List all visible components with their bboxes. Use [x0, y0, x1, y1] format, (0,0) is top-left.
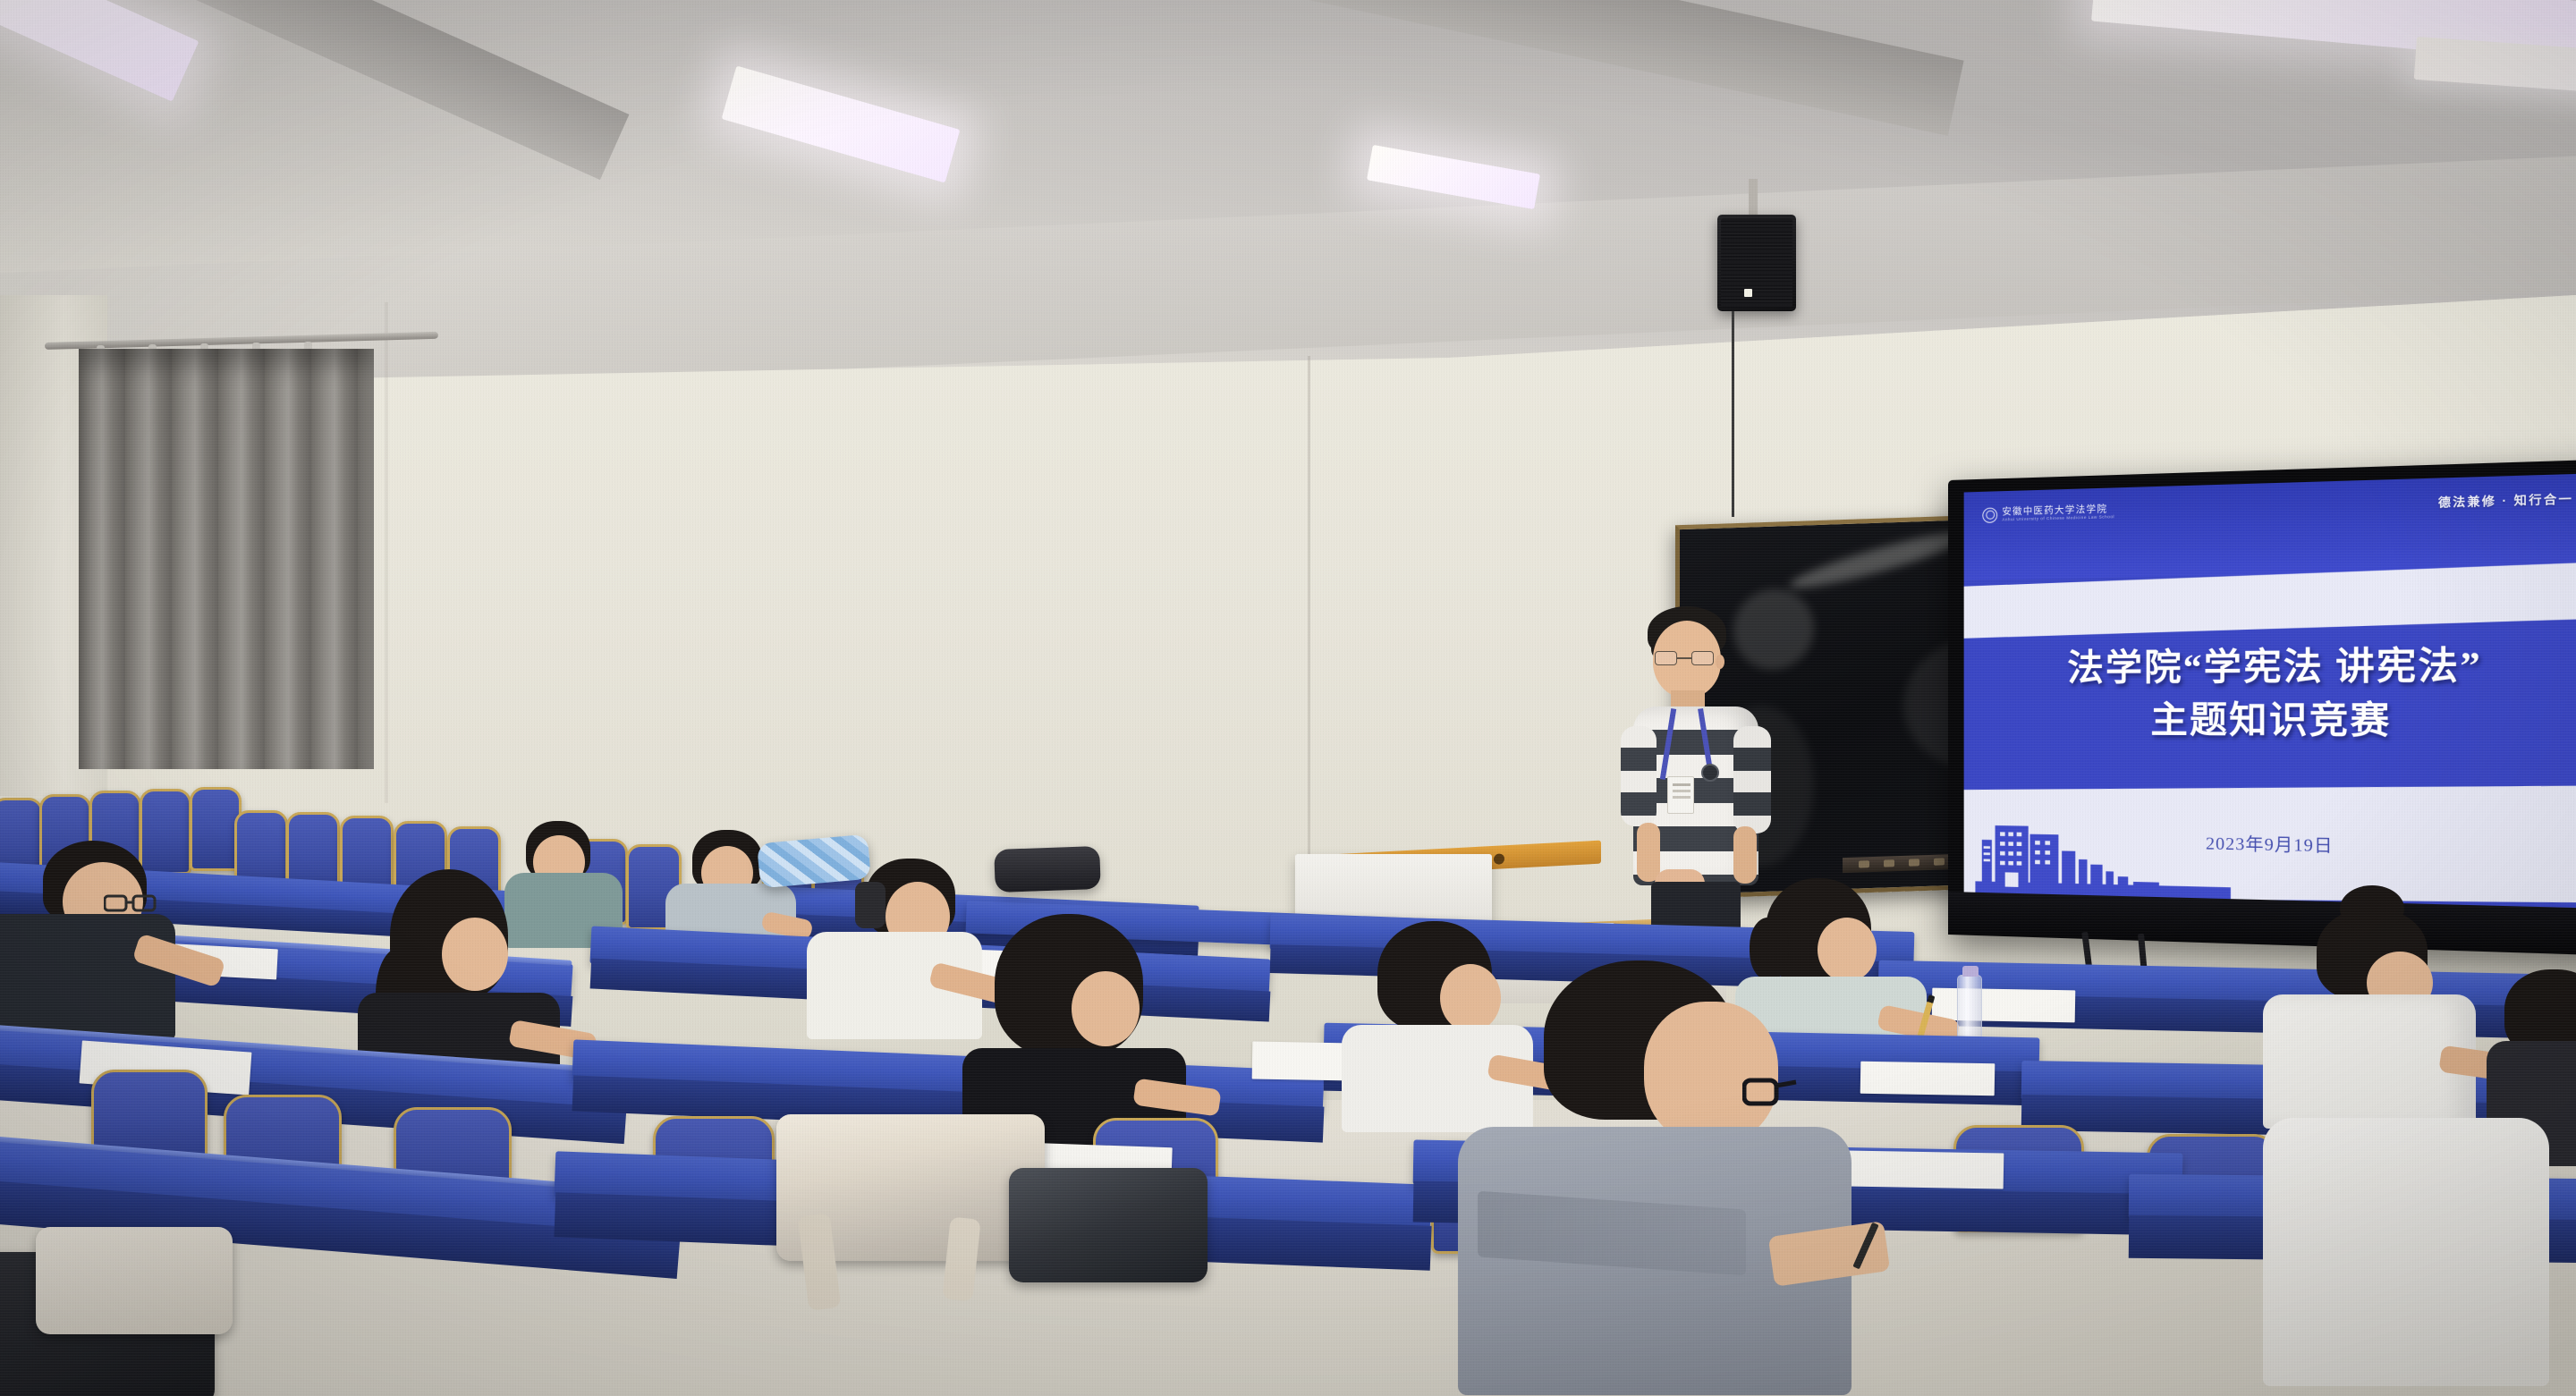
glasses-icon: [1655, 651, 1714, 666]
presenter-sleeve-left: [1621, 726, 1657, 826]
student-s8: [1458, 960, 1887, 1396]
wall-seam-vertical: [1308, 356, 1310, 857]
slide-title: 法学院“学宪法 讲宪法” 主题知识竞赛: [1964, 639, 2576, 749]
headphones-icon: [855, 882, 885, 928]
slide-slogan: 德法兼修 · 知行合一: [2438, 488, 2573, 511]
city-skyline-graphic: [1976, 804, 2232, 899]
bottle-cap: [1962, 966, 1979, 977]
student-torso: [2263, 1118, 2549, 1386]
id-badge: [1667, 776, 1694, 814]
student-head: [1072, 971, 1140, 1046]
slide-header-band: [1964, 473, 2576, 580]
presenter-forearm-right: [1733, 826, 1757, 884]
presenter-ear: [1716, 655, 1724, 669]
school-seal-icon: [1983, 507, 1998, 523]
speaker-grille-icon: [1721, 218, 1792, 308]
slide-title-line1: 法学院“学宪法 讲宪法”: [1964, 639, 2576, 695]
slide-title-line2: 主题知识竞赛: [1964, 694, 2576, 749]
presentation-slide: 安徽中医药大学法学院 Anhui University of Chinese M…: [1964, 473, 2576, 909]
classroom-scene: 安徽中医药大学法学院 Anhui University of Chinese M…: [0, 0, 2576, 1396]
window-curtain[interactable]: [79, 349, 374, 769]
wall-speaker: [1717, 215, 1796, 311]
student-s6: [948, 914, 1207, 1138]
presenter-forearm-left: [1637, 823, 1660, 882]
student-s10-foreground: [2263, 1118, 2558, 1396]
glasses-icon: [1742, 1073, 1801, 1109]
student-torso: [0, 914, 175, 1039]
student-s1: [0, 841, 233, 1028]
hair-bun-icon: [2340, 885, 2404, 932]
glasses-icon: [104, 893, 157, 914]
interactive-display[interactable]: 安徽中医药大学法学院 Anhui University of Chinese M…: [1948, 459, 2576, 956]
student-head: [442, 918, 508, 991]
wall-seam-corner: [385, 302, 388, 803]
speaker-led-icon: [1744, 289, 1752, 297]
presenter-sleeve-right: [1733, 726, 1771, 833]
speaker-mount-arm: [1749, 179, 1758, 218]
bag-foreground-light[interactable]: [36, 1227, 233, 1334]
answer-sheet: [1932, 988, 2076, 1023]
chalk-smudge: [1787, 522, 1975, 596]
backpack-dark[interactable]: [1009, 1168, 1207, 1282]
student-s10: [2254, 909, 2504, 1123]
shirt-emblem-icon: [1701, 764, 1719, 782]
display-bezel: 安徽中医药大学法学院 Anhui University of Chinese M…: [1964, 473, 2576, 909]
display-cable: [1732, 311, 1734, 517]
bag-black-on-desk: [994, 846, 1101, 893]
